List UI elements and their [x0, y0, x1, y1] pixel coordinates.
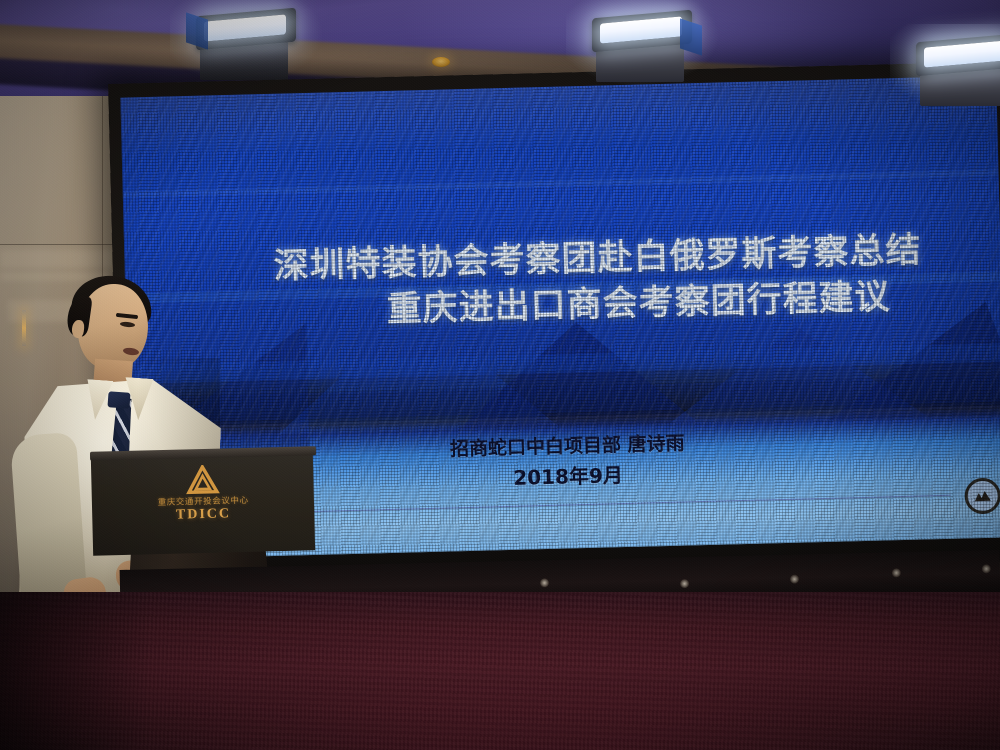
podium-logo-block: 重庆交通开投会议中心 TDICC: [91, 462, 314, 525]
presenter-tie-knot: [107, 391, 130, 408]
wall-seam-1: [0, 244, 128, 245]
stage-floor-light-4: [892, 568, 901, 577]
stage-floor-light-3: [790, 575, 799, 584]
china-merchants-mark-icon: [964, 478, 1000, 515]
wall-streak-1: [0, 250, 128, 268]
carpet-floor: [0, 592, 1000, 750]
tdicc-triangle-icon: [185, 465, 220, 496]
stage-floor-light-2: [680, 579, 689, 588]
recessed-light-1: [432, 57, 450, 67]
conference-photo: 深圳特装协会考察团赴白俄罗斯考察总结 重庆进出口商会考察团行程建议 招商蛇口中白…: [0, 0, 1000, 750]
stage-floor-light-1: [540, 578, 549, 587]
china-merchants-logo: 招商 CHINA MERCHANTS: [964, 476, 1000, 514]
deco-band-4: [123, 169, 999, 197]
stage-floor-light-5: [982, 564, 991, 573]
